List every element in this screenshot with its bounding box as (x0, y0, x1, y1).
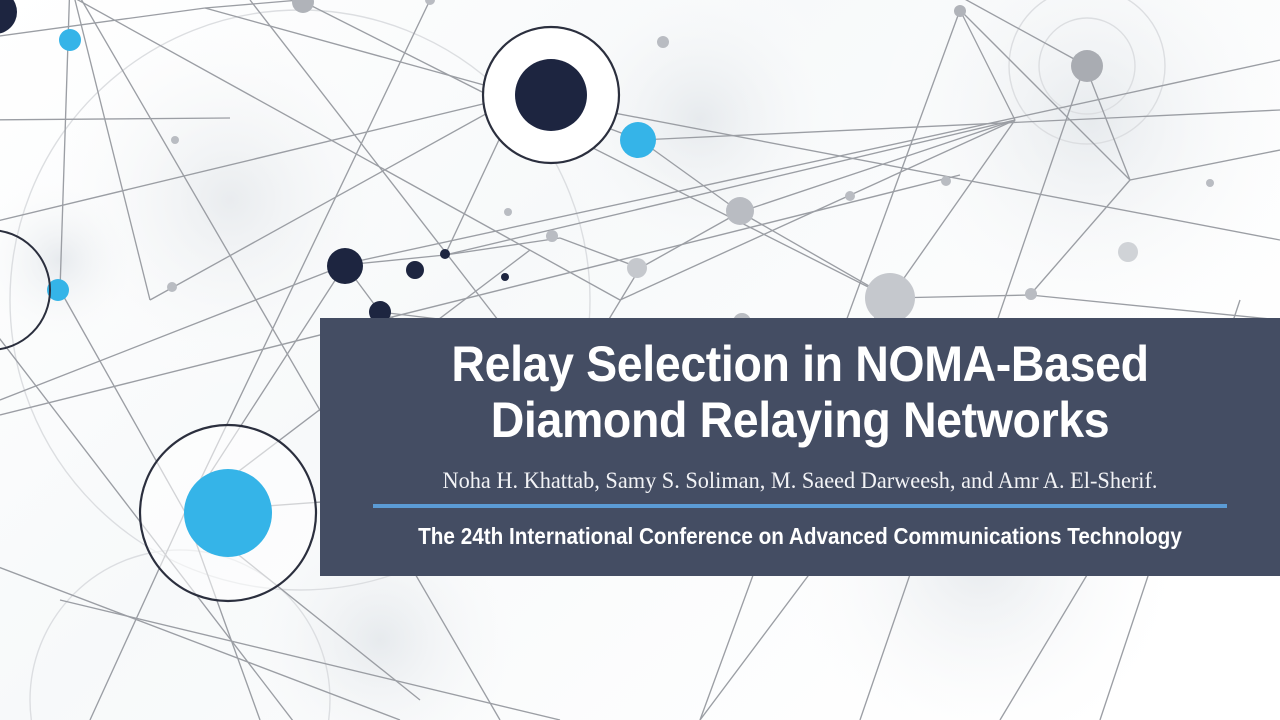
network-node (504, 208, 512, 216)
network-node (726, 197, 754, 225)
network-node (865, 273, 915, 323)
network-node (1025, 288, 1037, 300)
title-panel: Relay Selection in NOMA-Based Diamond Re… (320, 318, 1280, 576)
divider-rule (373, 504, 1227, 508)
title-slide: Relay Selection in NOMA-Based Diamond Re… (0, 0, 1280, 720)
ring-node-inner (184, 469, 272, 557)
network-node (941, 176, 951, 186)
network-node (845, 191, 855, 201)
network-node (1071, 50, 1103, 82)
network-node (501, 273, 509, 281)
network-node (627, 258, 647, 278)
network-node (167, 282, 177, 292)
network-node (546, 230, 558, 242)
page-title-line-1: Relay Selection in NOMA-Based (398, 336, 1202, 392)
ring-node-inner (515, 59, 587, 131)
network-node (327, 248, 363, 284)
network-node (59, 29, 81, 51)
authors-line: Noha H. Khattab, Samy S. Soliman, M. Sae… (381, 466, 1219, 496)
network-node (657, 36, 669, 48)
network-node (171, 136, 179, 144)
page-title-line-2: Diamond Relaying Networks (398, 392, 1202, 448)
conference-name: The 24th International Conference on Adv… (411, 521, 1189, 551)
network-node (1118, 242, 1138, 262)
cyan-node (620, 122, 656, 158)
network-node (954, 5, 966, 17)
network-node (440, 249, 450, 259)
network-node (406, 261, 424, 279)
network-node (1206, 179, 1214, 187)
